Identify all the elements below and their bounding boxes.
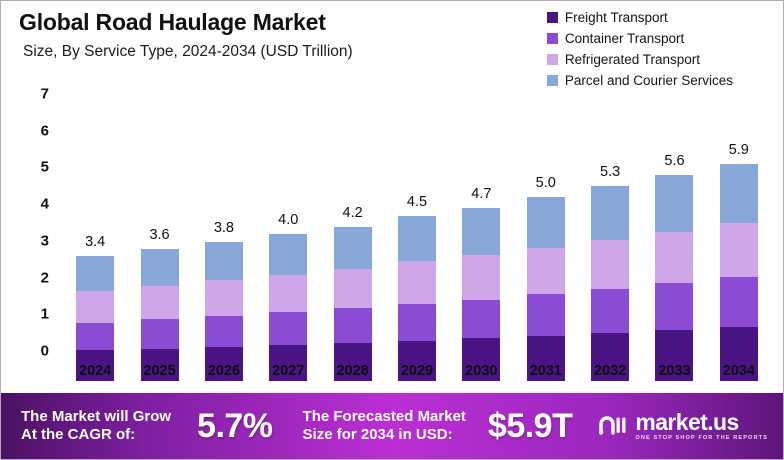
bar-segment[interactable]: [720, 277, 758, 327]
bar-segment[interactable]: [398, 261, 436, 303]
legend-label: Freight Transport: [565, 10, 668, 25]
bar-total-label: 5.3: [580, 164, 640, 180]
bar-column[interactable]: 4.2: [334, 111, 372, 381]
legend-item[interactable]: Freight Transport: [547, 8, 733, 27]
chart-plot-area: 76543210 3.43.63.84.04.24.54.75.05.35.65…: [1, 81, 784, 381]
bar-segment[interactable]: [462, 300, 500, 339]
y-axis-tick: 1: [15, 306, 49, 323]
bar-segment[interactable]: [334, 227, 372, 269]
bar-column[interactable]: 3.6: [141, 111, 179, 381]
y-axis-tick: 7: [15, 86, 49, 103]
x-axis-tick: 2031: [511, 363, 581, 379]
chart-legend: Freight TransportContainer TransportRefr…: [547, 8, 733, 90]
bar-stack: [398, 216, 436, 381]
bar-segment[interactable]: [205, 242, 243, 281]
x-axis-tick: 2033: [639, 363, 709, 379]
legend-label: Container Transport: [565, 31, 684, 46]
market-us-tagline: ONE STOP SHOP FOR THE REPORTS: [635, 436, 768, 442]
bar-stack: [591, 186, 629, 381]
bar-segment[interactable]: [591, 186, 629, 240]
market-us-mark-icon: [598, 413, 628, 440]
legend-swatch-icon: [547, 33, 558, 44]
bar-column[interactable]: 5.3: [591, 111, 629, 381]
y-axis-tick: 2: [15, 269, 49, 286]
bar-total-label: 5.6: [644, 153, 704, 169]
bar-total-label: 4.2: [323, 205, 383, 221]
market-us-word: market.us: [635, 411, 768, 434]
bar-segment[interactable]: [527, 248, 565, 295]
bar-segment[interactable]: [76, 256, 114, 291]
page-title: Global Road Haulage Market: [19, 9, 326, 36]
bar-segment[interactable]: [591, 240, 629, 289]
y-axis-tick: 5: [15, 159, 49, 176]
y-axis-tick: 4: [15, 196, 49, 213]
footer-cagr-label-line2: At the CAGR of:: [21, 426, 171, 444]
bar-stack: [655, 175, 693, 381]
market-us-wordmark: market.us ONE STOP SHOP FOR THE REPORTS: [635, 411, 768, 442]
footer-cagr-value: 5.7%: [197, 407, 273, 446]
y-axis-tick: 6: [15, 122, 49, 139]
bar-column[interactable]: 5.9: [720, 111, 758, 381]
x-axis-tick: 2025: [125, 363, 195, 379]
legend-swatch-icon: [547, 12, 558, 23]
bar-segment[interactable]: [720, 164, 758, 223]
bar-segment[interactable]: [527, 197, 565, 247]
x-axis-tick: 2029: [382, 363, 452, 379]
bar-column[interactable]: 4.7: [462, 111, 500, 381]
bar-segment[interactable]: [398, 216, 436, 262]
bar-segment[interactable]: [334, 308, 372, 343]
footer-size-label-line2: Size for 2034 in USD:: [303, 426, 466, 444]
bar-total-label: 3.6: [130, 227, 190, 243]
x-axis-tick: 2026: [189, 363, 259, 379]
bar-column[interactable]: 3.8: [205, 111, 243, 381]
bar-column[interactable]: 4.5: [398, 111, 436, 381]
bar-segment[interactable]: [655, 175, 693, 231]
bar-segment[interactable]: [205, 280, 243, 316]
bar-segment[interactable]: [141, 286, 179, 320]
bar-segment[interactable]: [269, 275, 307, 312]
x-axis-tick: 2028: [318, 363, 388, 379]
bar-total-label: 4.7: [451, 186, 511, 202]
bar-stack: [462, 208, 500, 381]
bar-total-label: 4.5: [387, 194, 447, 210]
market-us-logo[interactable]: market.us ONE STOP SHOP FOR THE REPORTS: [598, 411, 768, 442]
bar-segment[interactable]: [591, 289, 629, 333]
bar-segment[interactable]: [269, 234, 307, 275]
footer-size-value: $5.9T: [488, 407, 572, 446]
legend-item[interactable]: Container Transport: [547, 29, 733, 48]
bar-segment[interactable]: [141, 249, 179, 286]
footer-cagr-label: The Market will Grow At the CAGR of:: [21, 408, 171, 445]
bar-segment[interactable]: [76, 323, 114, 351]
bar-segment[interactable]: [462, 208, 500, 255]
x-axis-tick: 2027: [253, 363, 323, 379]
bar-total-label: 3.8: [194, 220, 254, 236]
bar-segment[interactable]: [527, 294, 565, 335]
x-axis-tick: 2024: [60, 363, 130, 379]
bar-total-label: 4.0: [258, 212, 318, 228]
bar-segment[interactable]: [720, 223, 758, 277]
bars-container: 3.43.63.84.04.24.54.75.05.35.65.9: [63, 81, 771, 381]
bar-segment[interactable]: [141, 319, 179, 348]
bar-total-label: 5.9: [709, 142, 769, 158]
x-axis-tick: 2034: [704, 363, 774, 379]
bar-column[interactable]: 3.4: [76, 111, 114, 381]
chart-card: Global Road Haulage Market Size, By Serv…: [0, 0, 784, 460]
y-axis-tick: 0: [15, 343, 49, 360]
bar-segment[interactable]: [655, 283, 693, 330]
footer-cagr-label-line1: The Market will Grow: [21, 408, 171, 426]
bar-stack: [269, 234, 307, 381]
bar-stack: [720, 164, 758, 381]
footer-size-label-line1: The Forecasted Market: [303, 408, 466, 426]
bar-segment[interactable]: [334, 269, 372, 308]
bar-stack: [527, 197, 565, 381]
bar-total-label: 3.4: [65, 234, 125, 250]
bar-segment[interactable]: [398, 304, 436, 341]
bar-total-label: 5.0: [516, 175, 576, 191]
bar-segment[interactable]: [76, 291, 114, 323]
legend-item[interactable]: Refrigerated Transport: [547, 50, 733, 69]
bar-column[interactable]: 5.0: [527, 111, 565, 381]
footer-banner: The Market will Grow At the CAGR of: 5.7…: [1, 393, 784, 459]
x-axis-tick: 2030: [446, 363, 516, 379]
bar-column[interactable]: 4.0: [269, 111, 307, 381]
bar-segment[interactable]: [462, 255, 500, 299]
bar-column[interactable]: 5.6: [655, 111, 693, 381]
x-axis-tick: 2032: [575, 363, 645, 379]
bar-stack: [334, 227, 372, 381]
bar-stack: [141, 249, 179, 381]
page-subtitle: Size, By Service Type, 2024-2034 (USD Tr…: [23, 43, 353, 61]
y-axis-tick: 3: [15, 232, 49, 249]
legend-swatch-icon: [547, 54, 558, 65]
bar-segment[interactable]: [269, 312, 307, 345]
bar-segment[interactable]: [655, 232, 693, 284]
footer-size-label: The Forecasted Market Size for 2034 in U…: [303, 408, 466, 445]
bar-segment[interactable]: [205, 316, 243, 347]
bar-stack: [205, 242, 243, 381]
legend-label: Refrigerated Transport: [565, 52, 700, 67]
